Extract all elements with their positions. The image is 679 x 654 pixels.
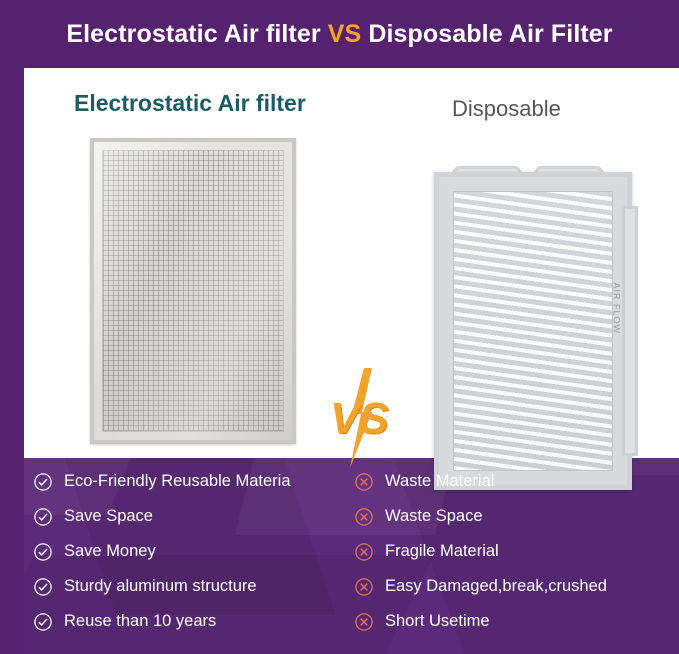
vs-badge: VS <box>324 368 414 468</box>
check-circle-icon <box>34 508 52 526</box>
list-item: Save Money <box>34 536 354 567</box>
header-title-part1: Electrostatic Air filter <box>66 20 327 48</box>
list-item-label: Reuse than 10 years <box>64 612 216 631</box>
check-circle-icon <box>34 578 52 596</box>
list-item: Waste Material <box>355 466 675 497</box>
list-item: Waste Space <box>355 501 675 532</box>
header-title-vs: VS <box>328 20 362 48</box>
cons-list: Waste Material Waste Space <box>355 466 675 641</box>
body-area: Electrostatic Air filter Disposable AIR … <box>0 68 679 654</box>
list-item: Easy Damaged,break,crushed <box>355 571 675 602</box>
cross-circle-icon <box>355 508 373 526</box>
list-item: Short Usetime <box>355 606 675 637</box>
disposable-air-filter-photo: AIR FLOW <box>428 166 638 496</box>
cross-circle-icon <box>355 613 373 631</box>
list-item-label: Waste Space <box>385 507 483 526</box>
list-item-label: Save Space <box>64 507 153 526</box>
list-item: Fragile Material <box>355 536 675 567</box>
filter-mesh <box>102 150 284 432</box>
feature-lists: Eco-Friendly Reusable Materia Save Space… <box>0 466 679 654</box>
filter-side-text: AIR FLOW <box>612 282 622 334</box>
list-item-label: Easy Damaged,break,crushed <box>385 577 607 596</box>
left-column-title: Electrostatic Air filter <box>74 90 374 117</box>
list-item: Reuse than 10 years <box>34 606 354 637</box>
filter-side-rail <box>622 206 638 456</box>
filter-frame <box>434 172 632 490</box>
pros-list: Eco-Friendly Reusable Materia Save Space… <box>34 466 354 641</box>
electrostatic-air-filter-photo <box>90 138 296 444</box>
list-item: Save Space <box>34 501 354 532</box>
cross-circle-icon <box>355 578 373 596</box>
header-title-part2: Disposable Air Filter <box>361 20 612 48</box>
list-item-label: Short Usetime <box>385 612 490 631</box>
filter-media <box>453 191 613 471</box>
list-item-label: Waste Material <box>385 472 494 491</box>
cross-circle-icon <box>355 543 373 561</box>
list-item: Sturdy aluminum structure <box>34 571 354 602</box>
page-title: Electrostatic Air filter VS Disposable A… <box>66 20 612 49</box>
list-item-label: Sturdy aluminum structure <box>64 577 257 596</box>
check-circle-icon <box>34 543 52 561</box>
vs-label: VS <box>330 394 389 444</box>
header-bar: Electrostatic Air filter VS Disposable A… <box>0 0 679 68</box>
list-item-label: Fragile Material <box>385 542 499 561</box>
list-item-label: Eco-Friendly Reusable Materia <box>64 472 291 491</box>
check-circle-icon <box>34 473 52 491</box>
list-item: Eco-Friendly Reusable Materia <box>34 466 354 497</box>
right-column-title: Disposable <box>452 96 679 122</box>
list-item-label: Save Money <box>64 542 156 561</box>
comparison-infographic: Electrostatic Air filter VS Disposable A… <box>0 0 679 654</box>
cross-circle-icon <box>355 473 373 491</box>
product-photo-card: Electrostatic Air filter Disposable AIR … <box>24 68 679 458</box>
check-circle-icon <box>34 613 52 631</box>
